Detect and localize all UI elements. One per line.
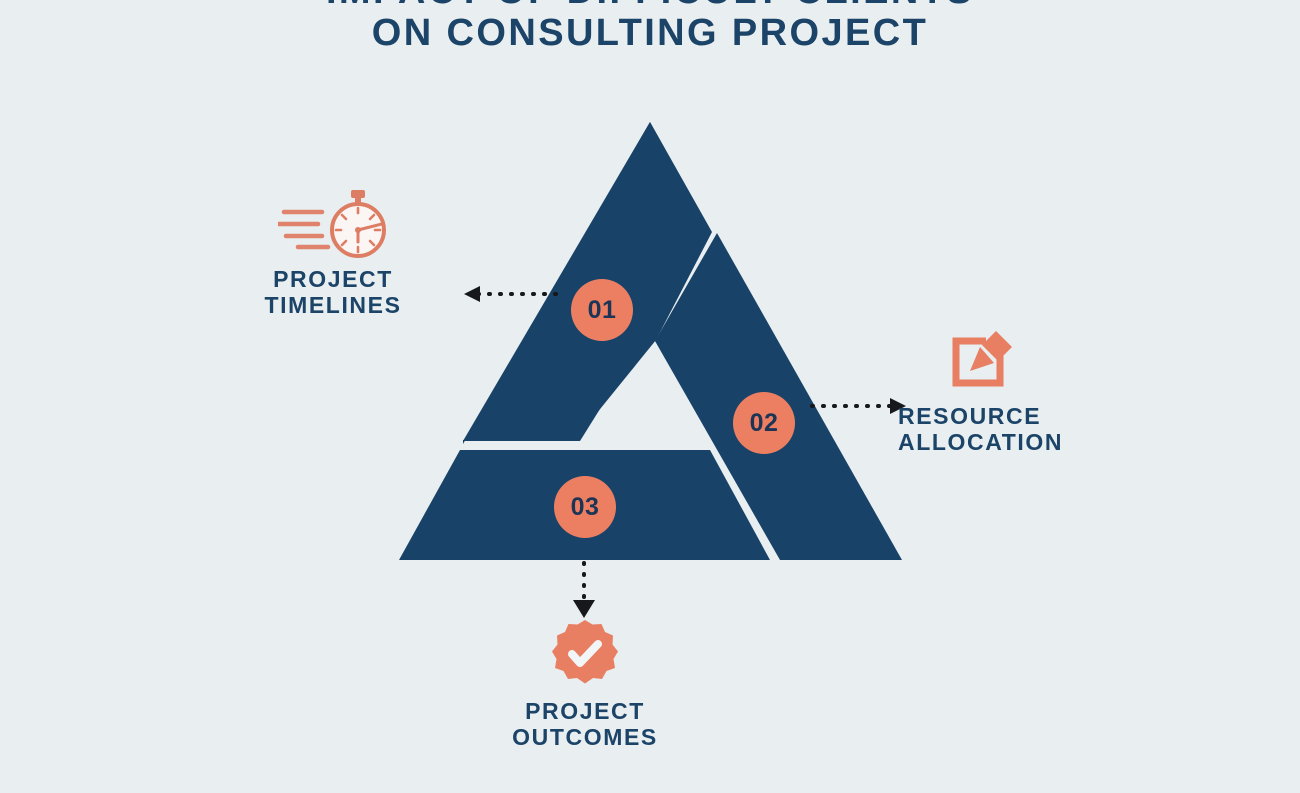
callout-outcomes-line-1: PROJECT	[485, 698, 685, 724]
arrow-down-to-outcomes	[573, 563, 595, 618]
number-badge-02-text: 02	[750, 409, 779, 438]
arrow-left-to-timelines	[464, 286, 556, 302]
callout-resource-line-1: RESOURCE	[898, 403, 1098, 429]
callout-resource-line-2: ALLOCATION	[898, 429, 1098, 455]
stopwatch-speed-icon	[230, 188, 436, 260]
arrow-left-head	[464, 286, 480, 302]
callout-resource-allocation[interactable]: RESOURCE ALLOCATION	[898, 327, 1098, 455]
callout-resource-label: RESOURCE ALLOCATION	[898, 403, 1098, 455]
callout-timelines-label: PROJECT TIMELINES	[230, 266, 436, 318]
callout-timelines-line-2: TIMELINES	[230, 292, 436, 318]
number-badge-01[interactable]: 01	[571, 279, 633, 341]
callout-outcomes-line-2: OUTCOMES	[485, 724, 685, 750]
callout-timelines-line-1: PROJECT	[230, 266, 436, 292]
callout-project-timelines[interactable]: PROJECT TIMELINES	[230, 188, 436, 318]
callout-project-outcomes[interactable]: PROJECT OUTCOMES	[485, 620, 685, 750]
number-badge-01-text: 01	[588, 296, 617, 325]
callout-outcomes-label: PROJECT OUTCOMES	[485, 698, 685, 750]
check-badge-rosette-icon	[485, 620, 685, 692]
number-badge-03[interactable]: 03	[554, 476, 616, 538]
rosette-shape	[552, 620, 618, 684]
arrow-right-to-resource	[812, 398, 906, 414]
number-badge-03-text: 03	[571, 493, 600, 522]
edit-square-pencil-icon	[948, 327, 1098, 399]
arrow-down-head	[573, 600, 595, 618]
infographic-canvas: IMPACT OF DIFFICULT CLIENTS ON CONSULTIN…	[0, 0, 1300, 793]
number-badge-02[interactable]: 02	[733, 392, 795, 454]
